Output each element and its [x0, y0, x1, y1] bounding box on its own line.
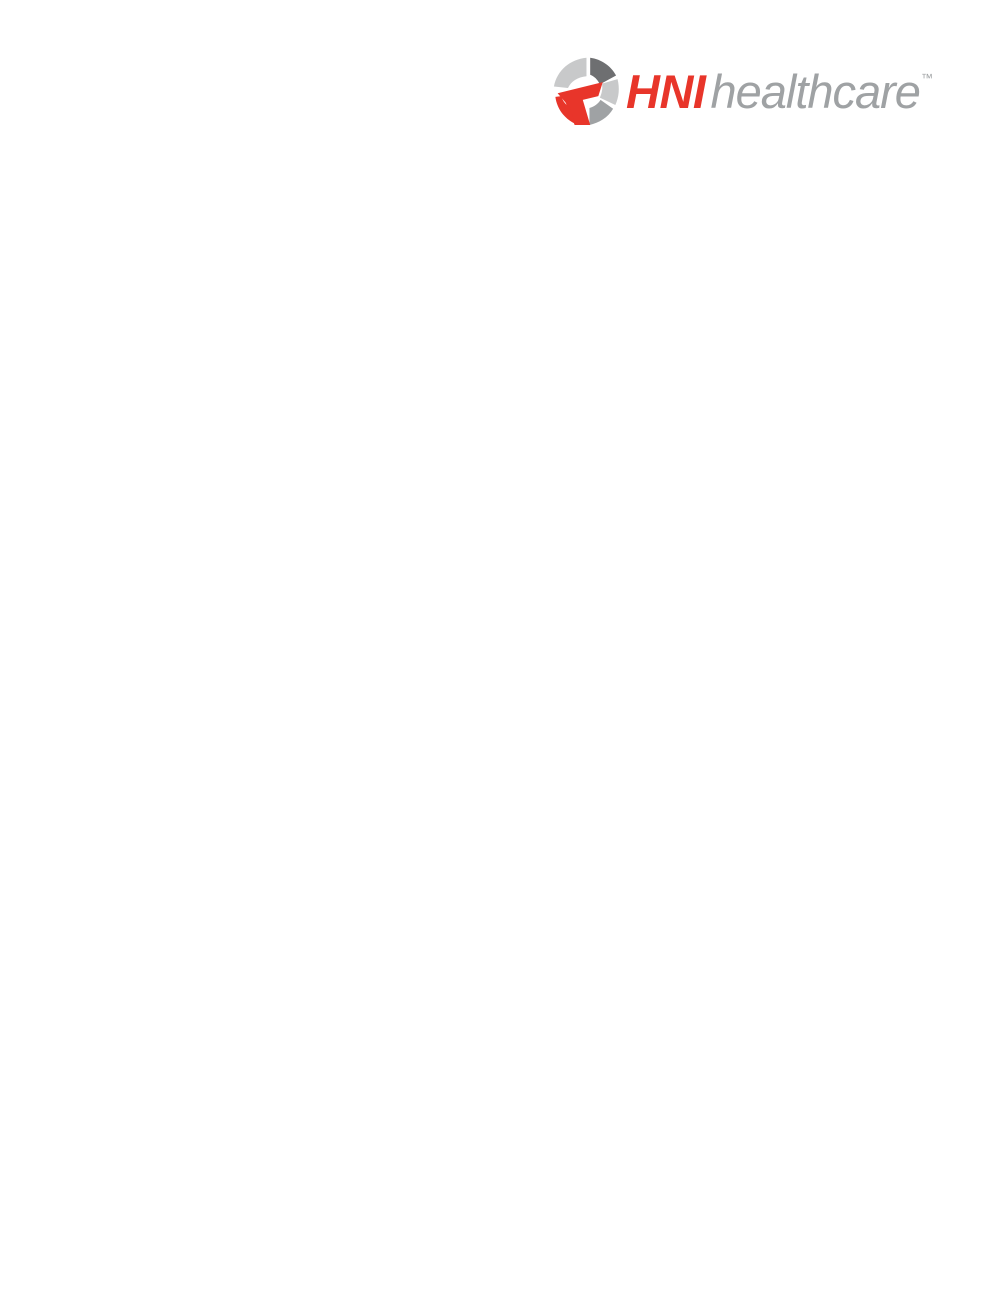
- cover-text-block: Building Exceptional Graduate Medical Ed…: [82, 572, 702, 1178]
- page-title: Building Exceptional Graduate Medical Ed…: [82, 572, 702, 962]
- cover-subtitle: How HNI partnered with a regional health…: [82, 1022, 562, 1154]
- cover-page: HNI healthcare ™ Building Exceptional Gr…: [0, 0, 1000, 1294]
- wordmark-healthcare: healthcare: [710, 68, 920, 115]
- wordmark-hni: HNI: [626, 68, 705, 115]
- brand-logo: HNI healthcare ™: [548, 52, 978, 130]
- trademark-symbol: ™: [921, 71, 933, 85]
- brand-wordmark: HNI healthcare ™: [626, 68, 932, 115]
- hni-globe-cross-icon: [548, 54, 622, 128]
- title-divider-rule: [82, 990, 304, 1005]
